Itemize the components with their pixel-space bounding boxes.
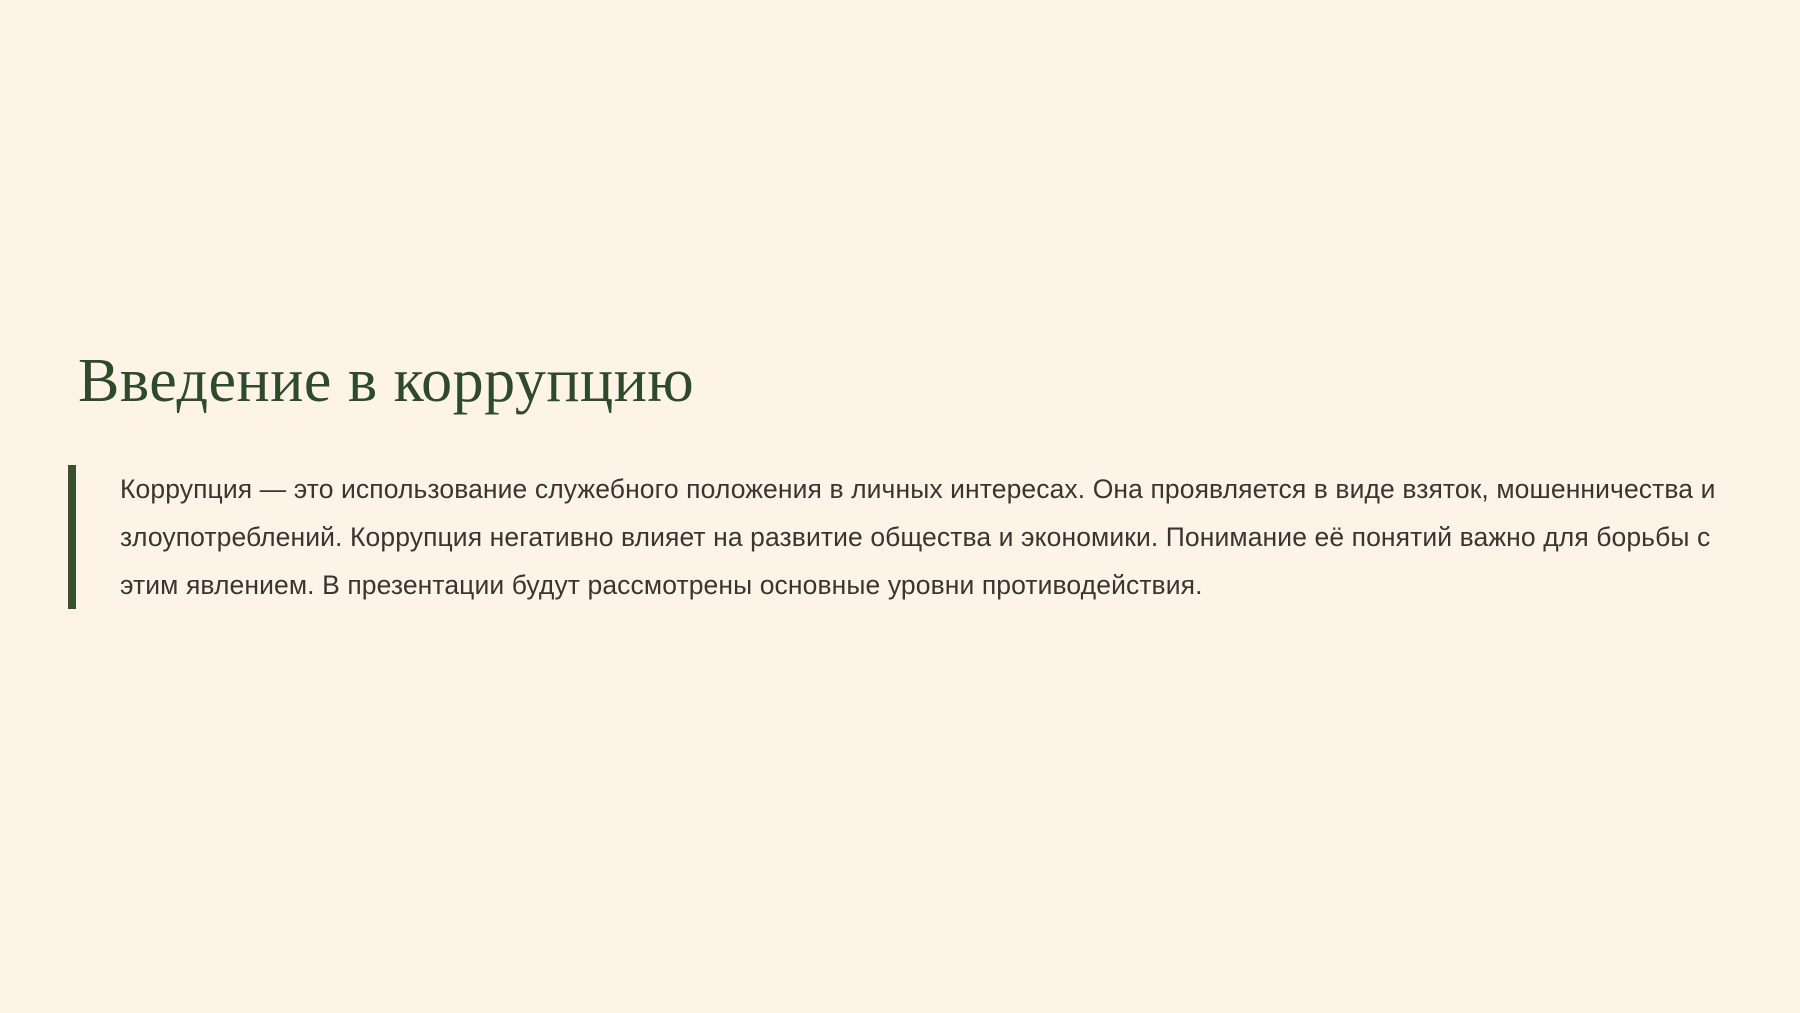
page-title: Введение в коррупцию	[78, 348, 694, 415]
body-quote-block: Коррупция — это использование служебного…	[68, 465, 1728, 609]
body-paragraph: Коррупция — это использование служебного…	[76, 465, 1728, 609]
accent-bar	[68, 465, 76, 609]
presentation-slide: Введение в коррупцию Коррупция — это исп…	[0, 0, 1800, 1013]
